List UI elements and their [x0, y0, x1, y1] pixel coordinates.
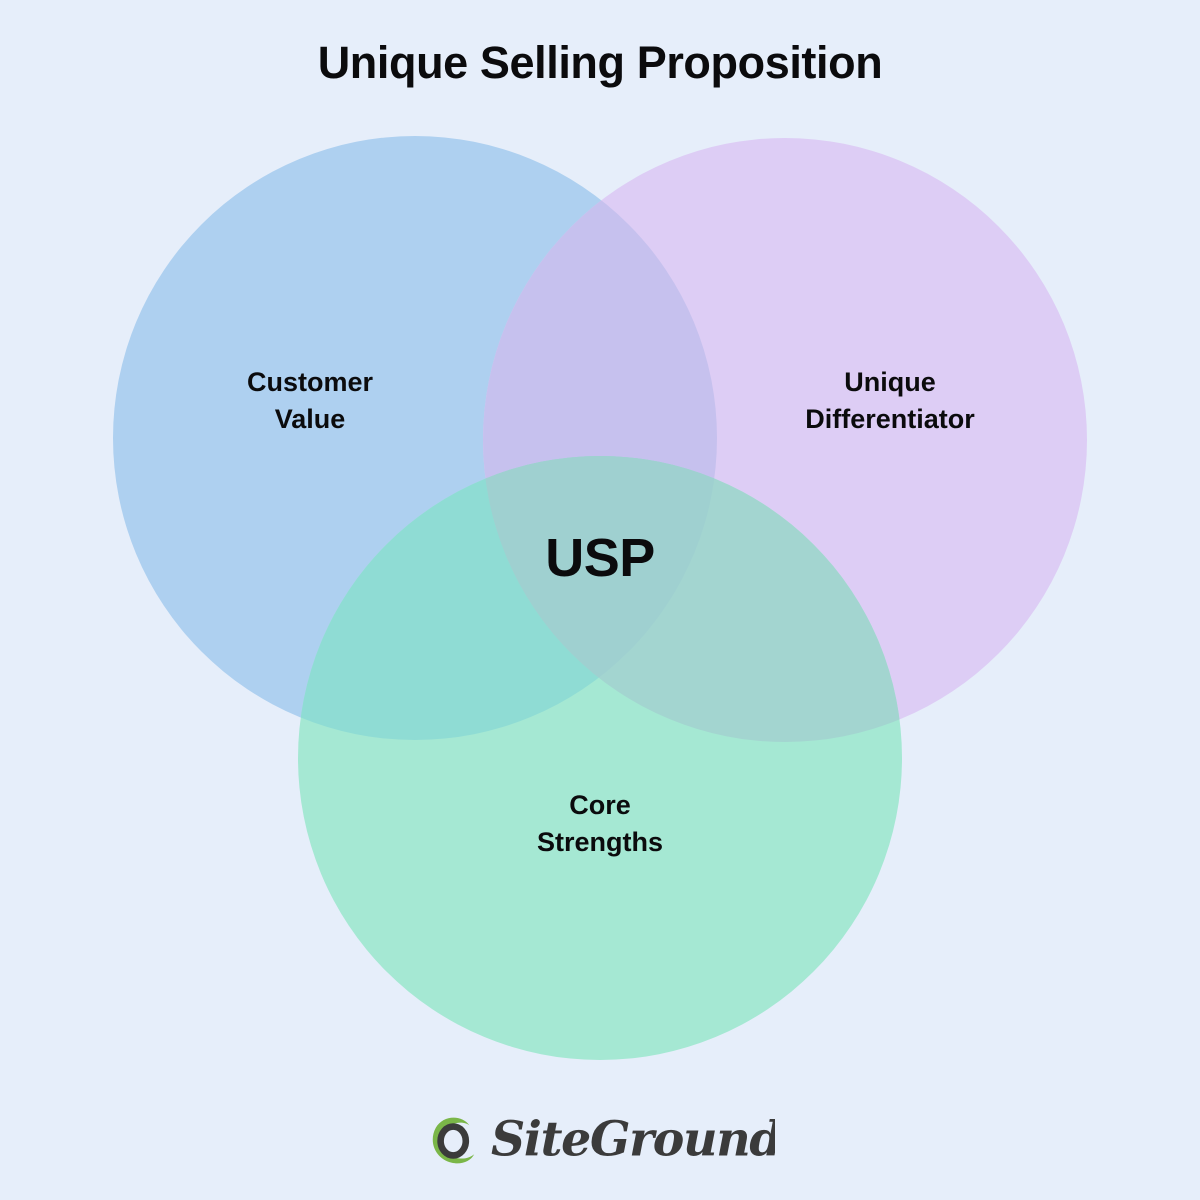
venn-svg [0, 0, 1200, 1080]
siteground-wordmark: SiteGround [491, 1110, 775, 1172]
brand-logo: SiteGround [0, 1098, 1200, 1184]
venn-diagram: Customer Value Unique Differentiator Cor… [0, 0, 1200, 1080]
siteground-spiral-icon [425, 1111, 485, 1171]
slide-canvas: Unique Selling Proposition [0, 0, 1200, 1200]
siteground-wordmark-text: SiteGround [491, 1113, 775, 1168]
